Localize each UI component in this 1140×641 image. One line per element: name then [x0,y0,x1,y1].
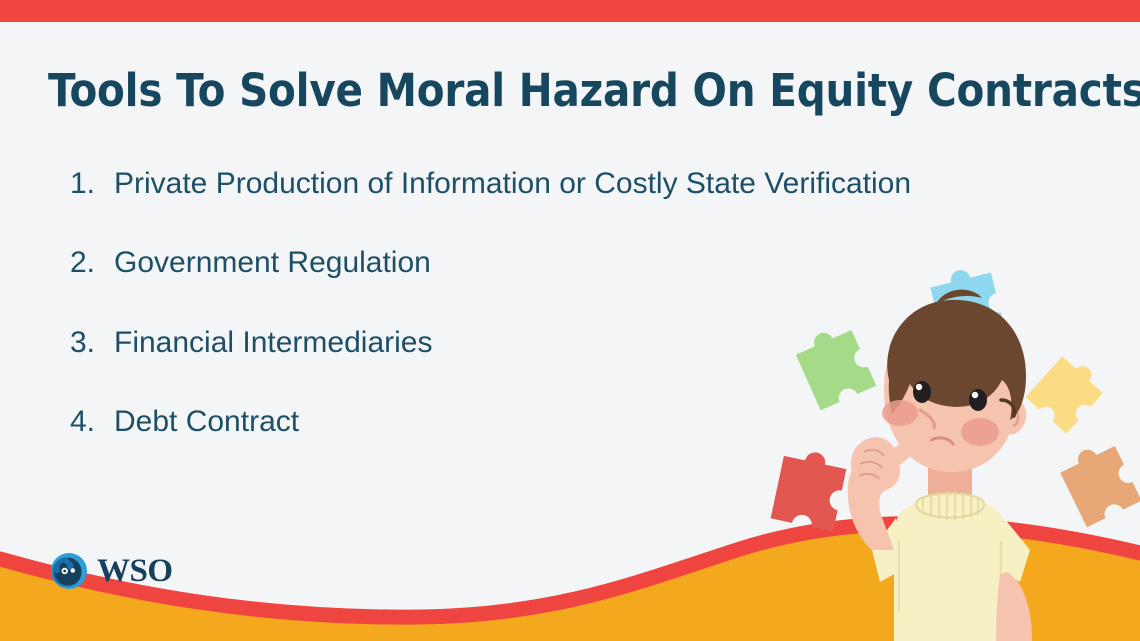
thinking-person-illustration [760,250,1140,641]
numbered-list: 1. Private Production of Information or … [70,166,830,484]
person-eye-right [969,389,987,411]
wso-globe-icon [50,552,88,590]
person-eye-right-glint [972,392,978,398]
person-shirt-sleeve-right [1002,518,1030,582]
list-item-number: 3. [70,325,114,360]
person-cheek-left [882,400,918,426]
page-title: Tools To Solve Moral Hazard On Equity Co… [48,66,1108,116]
list-item: 2. Government Regulation [70,245,830,280]
slide-canvas: Tools To Solve Moral Hazard On Equity Co… [0,0,1140,641]
puzzle-piece-yellow [1026,350,1109,434]
person-figure [848,290,1032,641]
person-eye-left-glint [916,384,922,390]
list-item: 1. Private Production of Information or … [70,166,830,201]
list-item-label: Private Production of Information or Cos… [114,166,911,201]
list-item: 3. Financial Intermediaries [70,325,830,360]
list-item: 4. Debt Contract [70,404,830,439]
list-item-number: 1. [70,166,114,201]
list-item-number: 2. [70,245,114,280]
top-accent-bar [0,0,1140,22]
wso-logo[interactable]: WSO [50,552,173,590]
puzzle-piece-red [771,446,849,532]
person-collar [916,494,984,518]
wso-logo-text: WSO [97,555,173,588]
puzzle-piece-tan [1056,437,1140,527]
list-item-label: Financial Intermediaries [114,325,830,360]
globe-pupil [63,570,66,573]
person-arm-right [996,572,1032,641]
list-item-label: Debt Contract [114,404,830,439]
list-item-number: 4. [70,404,114,439]
list-item-label: Government Regulation [114,245,830,280]
person-eye-left [913,381,931,403]
globe-dot-2 [71,568,76,573]
puzzle-piece-green [792,321,876,410]
person-cheek-right [961,418,999,446]
